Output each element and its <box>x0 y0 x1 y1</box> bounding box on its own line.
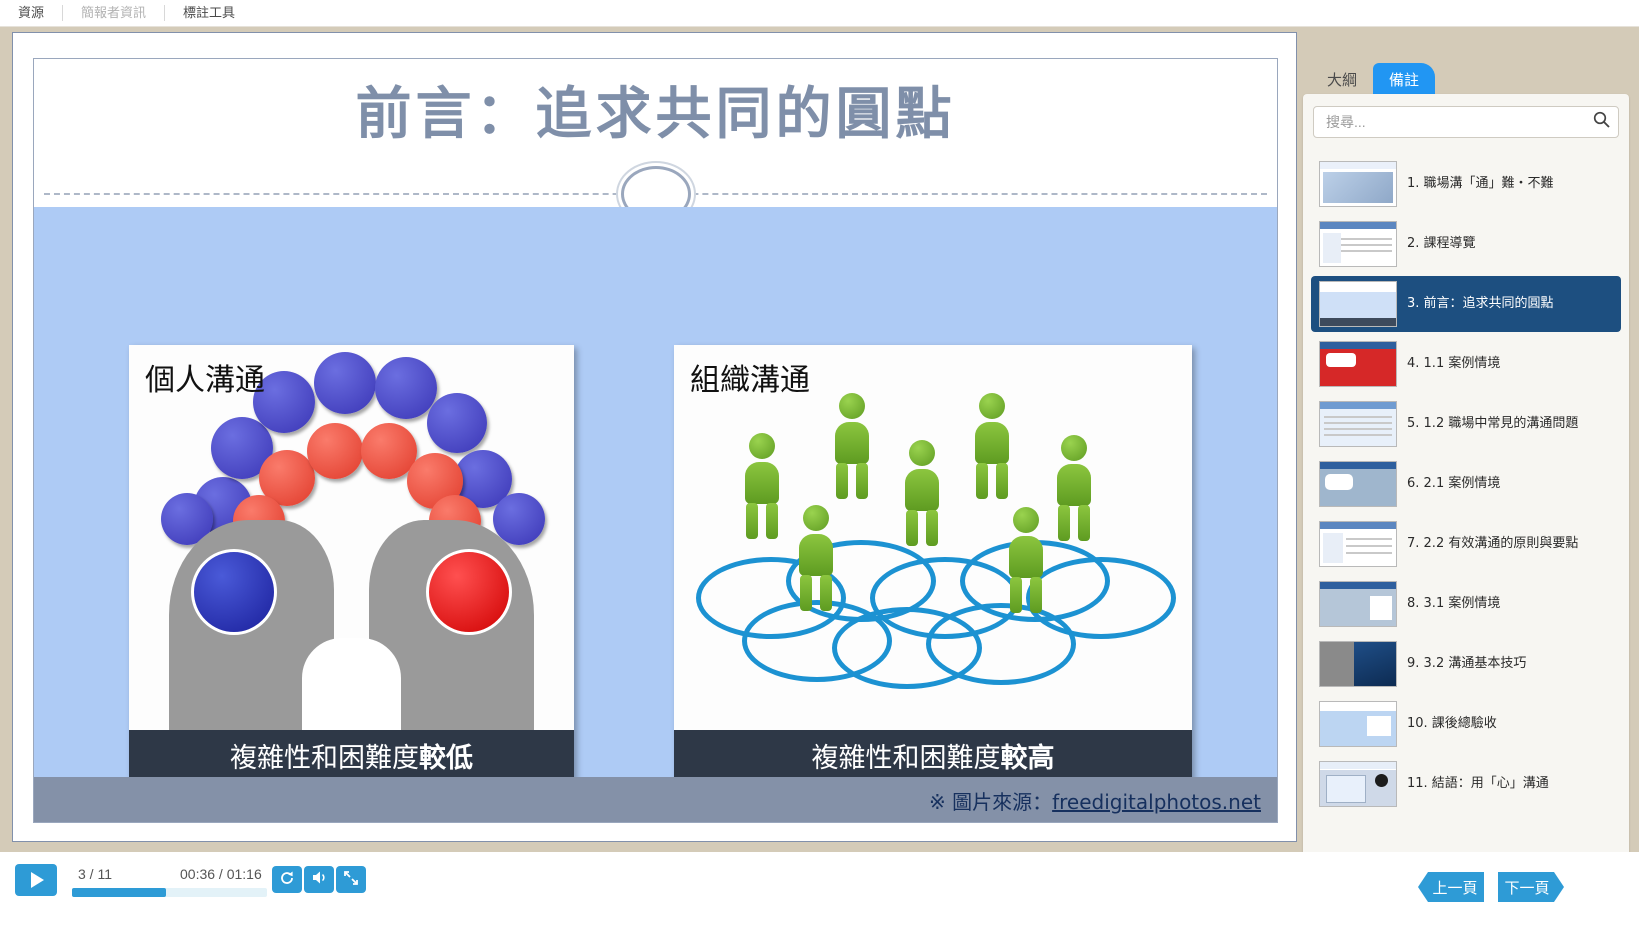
menu-item-resources[interactable]: 資源 <box>0 0 62 26</box>
slide-thumbnail <box>1319 341 1397 387</box>
page-counter: 3 / 11 <box>78 866 112 882</box>
time-display: 00:36 / 01:16 <box>180 866 262 882</box>
slide-thumbnail <box>1319 641 1397 687</box>
source-link[interactable]: freedigitalphotos.net <box>1052 790 1261 814</box>
list-item[interactable]: 5. 1.2 職場中常見的溝通問題 <box>1311 396 1621 452</box>
panel-organizational-communication: 組織溝通 <box>674 345 1192 780</box>
list-item[interactable]: 1. 職場溝「通」難・不難 <box>1311 156 1621 212</box>
list-item[interactable]: 7. 2.2 有效溝通的原則與要點 <box>1311 516 1621 572</box>
decor-dot <box>307 423 363 479</box>
list-item-label: 11. 結語：用「心」溝通 <box>1407 776 1549 792</box>
list-item-label: 7. 2.2 有效溝通的原則與要點 <box>1407 536 1578 552</box>
sidebar-panel: 1. 職場溝「通」難・不難 2. 課程導覽 <box>1303 94 1629 864</box>
decor-dot <box>314 352 376 414</box>
slide-thumbnail <box>1319 161 1397 207</box>
caption-text-normal: 複雜性和困難度 <box>230 736 419 775</box>
decor-dot <box>375 357 437 419</box>
list-item[interactable]: 6. 2.1 案例情境 <box>1311 456 1621 512</box>
slide-thumbnail <box>1319 701 1397 747</box>
replay-icon <box>279 870 295 890</box>
list-item-label: 10. 課後總驗收 <box>1407 716 1497 732</box>
replay-button[interactable] <box>272 866 302 893</box>
panel-individual-communication: 個人溝通 <box>129 345 574 780</box>
search-icon[interactable] <box>1593 111 1610 133</box>
image-source-note: ※ 圖片來源：freedigitalphotos.net <box>929 786 1261 815</box>
slide-outline-list[interactable]: 1. 職場溝「通」難・不難 2. 課程導覽 <box>1303 152 1629 864</box>
tab-notes[interactable]: 備註 <box>1373 63 1435 97</box>
list-item[interactable]: 8. 3.1 案例情境 <box>1311 576 1621 632</box>
top-menu-bar: 資源 簡報者資訊 標註工具 <box>0 0 1639 27</box>
slide-canvas: 前言：追求共同的圓點 個人溝通 <box>33 58 1278 823</box>
progress-fill <box>72 888 166 897</box>
panel-caption-left: 複雜性和困難度較低 <box>129 730 574 780</box>
volume-icon <box>311 870 328 889</box>
fullscreen-button[interactable] <box>336 866 366 893</box>
list-item[interactable]: 10. 課後總驗收 <box>1311 696 1621 752</box>
volume-button[interactable] <box>304 866 334 893</box>
brain-circle-blue <box>191 549 277 635</box>
slide-footer-bar: ※ 圖片來源：freedigitalphotos.net <box>34 777 1277 823</box>
network-ring <box>926 603 1076 685</box>
search-box[interactable] <box>1313 106 1619 138</box>
tab-outline[interactable]: 大綱 <box>1311 63 1373 97</box>
decor-dot <box>427 393 487 453</box>
slide-thumbnail <box>1319 581 1397 627</box>
player-bar: 3 / 11 00:36 / 01:16 <box>0 852 1639 939</box>
search-input[interactable] <box>1326 114 1593 130</box>
panel-label-right: 組織溝通 <box>690 355 810 399</box>
list-item[interactable]: 11. 結語：用「心」溝通 <box>1311 756 1621 812</box>
panel-image-network: 組織溝通 <box>674 345 1192 730</box>
caption-text-bold: 較高 <box>1001 736 1055 775</box>
list-item-label: 6. 2.1 案例情境 <box>1407 476 1500 492</box>
menu-item-annotation-tool[interactable]: 標註工具 <box>165 0 253 26</box>
slide-thumbnail <box>1319 221 1397 267</box>
list-item-label: 8. 3.1 案例情境 <box>1407 596 1500 612</box>
list-item[interactable]: 9. 3.2 溝通基本技巧 <box>1311 636 1621 692</box>
list-item-label: 9. 3.2 溝通基本技巧 <box>1407 656 1526 672</box>
slide-title: 前言：追求共同的圓點 <box>34 69 1277 150</box>
caption-text-bold: 較低 <box>419 736 473 775</box>
list-item-label: 4. 1.1 案例情境 <box>1407 356 1500 372</box>
list-item[interactable]: 2. 課程導覽 <box>1311 216 1621 272</box>
list-item-label: 5. 1.2 職場中常見的溝通問題 <box>1407 416 1578 432</box>
slide-thumbnail <box>1319 281 1397 327</box>
previous-page-button[interactable]: 上一頁 <box>1418 872 1484 902</box>
list-item-label: 1. 職場溝「通」難・不難 <box>1407 176 1554 192</box>
slide-thumbnail <box>1319 461 1397 507</box>
panel-image-heads: 個人溝通 <box>129 345 574 730</box>
panel-caption-right: 複雜性和困難度較高 <box>674 730 1192 780</box>
list-item[interactable]: 4. 1.1 案例情境 <box>1311 336 1621 392</box>
sidebar-tabs: 大綱 備註 <box>1311 63 1435 97</box>
progress-bar[interactable] <box>72 888 267 897</box>
slide-thumbnail <box>1319 401 1397 447</box>
slide-thumbnail <box>1319 521 1397 567</box>
list-item-label: 2. 課程導覽 <box>1407 236 1476 252</box>
play-icon <box>31 872 44 888</box>
stage-background: 前言：追求共同的圓點 個人溝通 <box>0 27 1639 852</box>
fullscreen-icon <box>343 870 359 890</box>
brain-circle-red <box>426 549 512 635</box>
sidebar: 大綱 備註 1. 職場溝「通」難・不 <box>1303 63 1629 863</box>
slide-thumbnail <box>1319 761 1397 807</box>
panel-label-left: 個人溝通 <box>145 355 265 399</box>
list-item-selected[interactable]: 3. 前言：追求共同的圓點 <box>1311 276 1621 332</box>
list-item-label: 3. 前言：追求共同的圓點 <box>1407 296 1554 312</box>
slide-viewer[interactable]: 前言：追求共同的圓點 個人溝通 <box>12 32 1297 842</box>
menu-item-presenter-info[interactable]: 簡報者資訊 <box>63 0 164 26</box>
next-page-button[interactable]: 下一頁 <box>1498 872 1564 902</box>
source-prefix: ※ 圖片來源： <box>929 790 1052 814</box>
play-button[interactable] <box>15 864 57 896</box>
slide-body: 個人溝通 <box>34 207 1277 823</box>
caption-text-normal: 複雜性和困難度 <box>812 736 1001 775</box>
